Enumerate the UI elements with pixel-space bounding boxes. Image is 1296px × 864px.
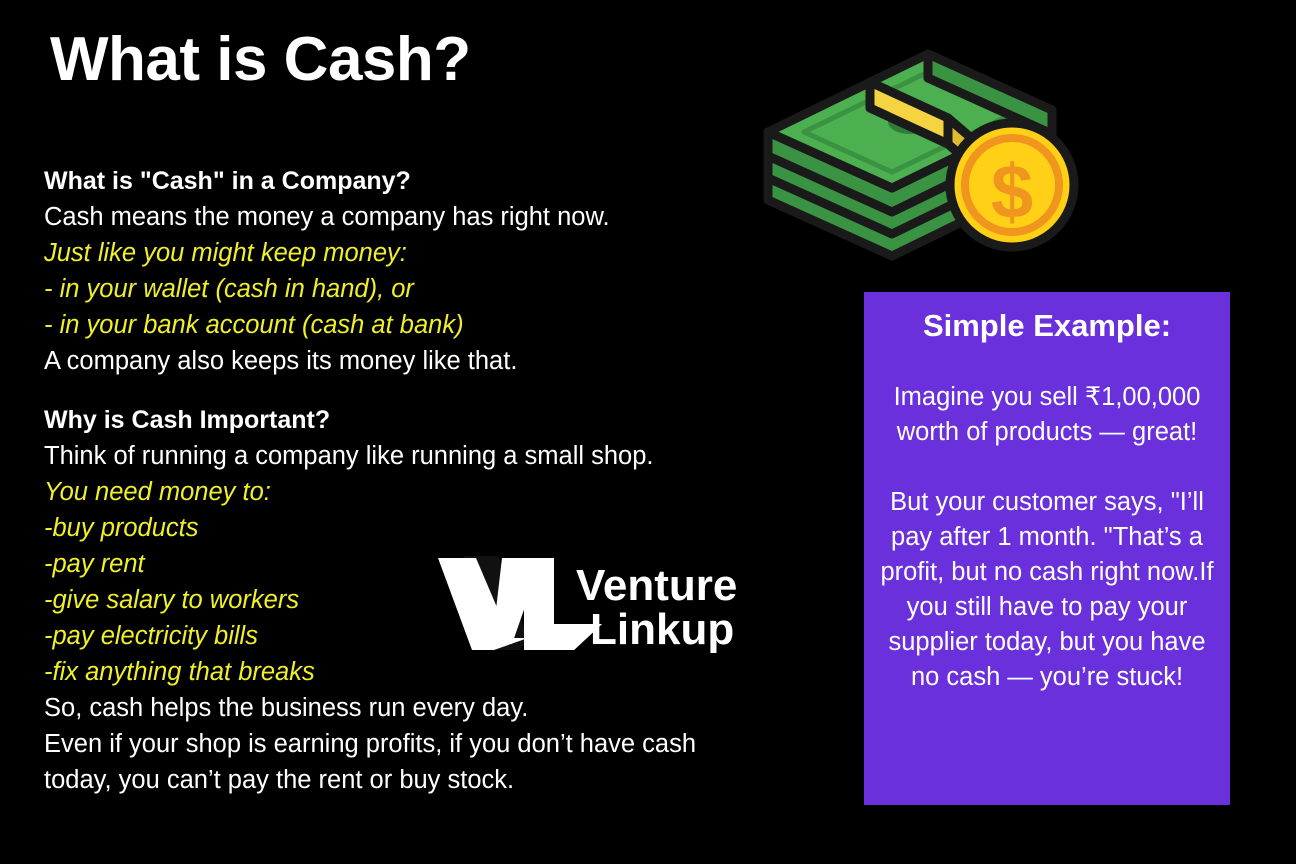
slide-canvas: What is Cash? — [0, 0, 1296, 864]
dollar-sign-icon: $ — [991, 150, 1033, 235]
section-two-line-0: Think of running a company like running … — [44, 438, 844, 474]
logo-line-one: Venture — [576, 561, 737, 610]
section-two-line-9: today, you can’t pay the rent or buy sto… — [44, 762, 844, 798]
example-paragraph-spacer — [876, 450, 1218, 485]
body-content: What is "Cash" in a Company? Cash means … — [44, 163, 844, 798]
section-one-line-1: Just like you might keep money: — [44, 235, 844, 271]
section-one-heading: What is "Cash" in a Company? — [44, 163, 844, 199]
section-two-line-2: -buy products — [44, 510, 844, 546]
section-two-line-8: Even if your shop is earning profits, if… — [44, 726, 844, 762]
page-title: What is Cash? — [50, 26, 471, 94]
section-one-line-4: A company also keeps its money like that… — [44, 343, 844, 379]
section-what-is-cash: What is "Cash" in a Company? Cash means … — [44, 163, 844, 379]
venture-linkup-logo: Venture Linkup — [424, 550, 768, 656]
example-box-paragraph-one: Imagine you sell ₹1,00,000 worth of prod… — [876, 380, 1218, 450]
example-box-paragraph-two: But your customer says, "I’ll pay after … — [876, 485, 1218, 695]
simple-example-box: Simple Example: Imagine you sell ₹1,00,0… — [864, 292, 1230, 805]
section-two-line-1: You need money to: — [44, 474, 844, 510]
section-two-heading: Why is Cash Important? — [44, 402, 844, 438]
section-spacer — [44, 379, 844, 402]
example-box-title: Simple Example: — [876, 306, 1218, 346]
section-one-line-2: - in your wallet (cash in hand), or — [44, 271, 844, 307]
logo-line-two: Linkup — [590, 605, 734, 654]
section-two-line-7: So, cash helps the business run every da… — [44, 690, 844, 726]
section-one-line-3: - in your bank account (cash at bank) — [44, 307, 844, 343]
section-two-line-6: -fix anything that breaks — [44, 654, 844, 690]
section-one-line-0: Cash means the money a company has right… — [44, 199, 844, 235]
